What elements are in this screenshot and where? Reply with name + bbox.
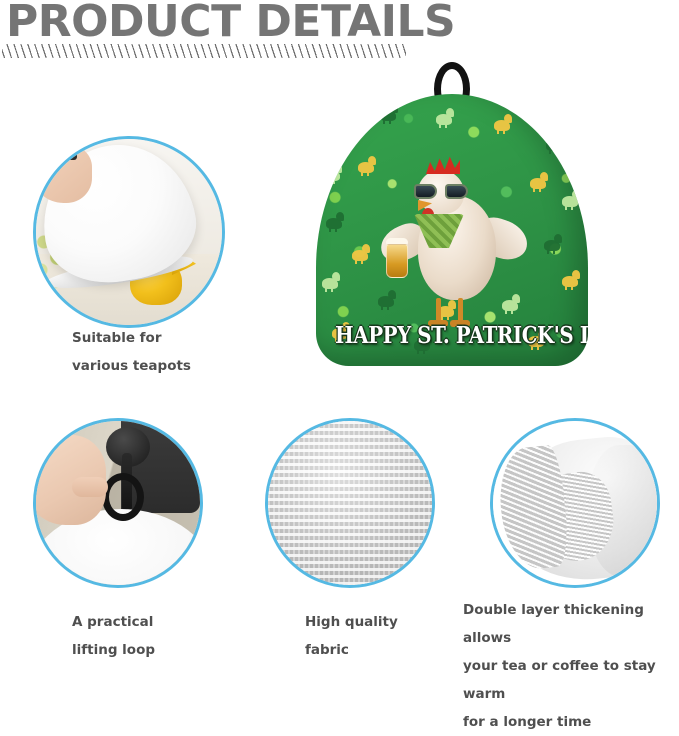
pattern-hen	[434, 108, 456, 128]
loop-scene	[36, 421, 200, 585]
caption-line: your tea or coffee to stay warm	[463, 652, 679, 708]
caption-line: for a longer time	[463, 708, 679, 736]
caption-line: High quality	[305, 608, 455, 636]
fabric-scene	[268, 421, 432, 585]
feature-image-teapots	[33, 136, 225, 328]
pattern-hen	[560, 270, 582, 290]
feature-image-layer	[490, 418, 660, 588]
hand	[33, 145, 92, 203]
caption-layer: Double layer thickening allows your tea …	[463, 596, 679, 736]
title-hatch-divider	[2, 44, 406, 58]
beer-glass	[386, 244, 408, 278]
caption-line: various teapots	[72, 352, 242, 380]
caption-line: fabric	[305, 636, 455, 664]
caption-line: Double layer thickening allows	[463, 596, 679, 652]
caption-line: lifting loop	[72, 636, 222, 664]
teapot-scene	[36, 139, 222, 325]
pattern-hen	[324, 212, 346, 232]
caption-line: Suitable for	[72, 324, 242, 352]
product-slogan: HAPPY ST. PATRICK'S DAY	[335, 322, 569, 349]
pattern-hen	[320, 272, 342, 292]
caption-line: A practical	[72, 608, 222, 636]
pattern-hen	[326, 116, 348, 136]
caption-loop: A practical lifting loop	[72, 608, 222, 664]
sunglass-lens-left	[414, 184, 437, 199]
caption-teapots: Suitable for various teapots	[72, 324, 242, 380]
caption-fabric: High quality fabric	[305, 608, 455, 664]
lifting-loop	[102, 473, 144, 521]
feature-image-loop	[33, 418, 203, 588]
page-title: PRODUCT DETAILS	[6, 0, 455, 47]
pattern-hen	[322, 164, 344, 184]
feature-image-fabric	[265, 418, 435, 588]
pattern-hen	[544, 134, 566, 154]
rooster-graphic	[374, 152, 530, 338]
sunglasses-icon	[414, 184, 468, 199]
rooster-comb	[426, 154, 460, 174]
hatch-pattern	[2, 44, 406, 58]
layer-scene	[493, 421, 657, 585]
pattern-hen	[492, 114, 514, 134]
cozy-loop-tag	[66, 141, 77, 160]
pattern-hen	[542, 234, 564, 254]
cozy-dome: HAPPY ST. PATRICK'S DAY	[316, 94, 588, 366]
finger	[72, 477, 108, 497]
product-main-image: HAPPY ST. PATRICK'S DAY	[316, 62, 588, 368]
pattern-hen	[350, 244, 372, 264]
pattern-hen	[528, 172, 550, 192]
pattern-hen	[378, 104, 400, 124]
sunglass-lens-right	[445, 184, 468, 199]
fabric-sheen	[268, 421, 432, 585]
pattern-hen	[560, 190, 582, 210]
